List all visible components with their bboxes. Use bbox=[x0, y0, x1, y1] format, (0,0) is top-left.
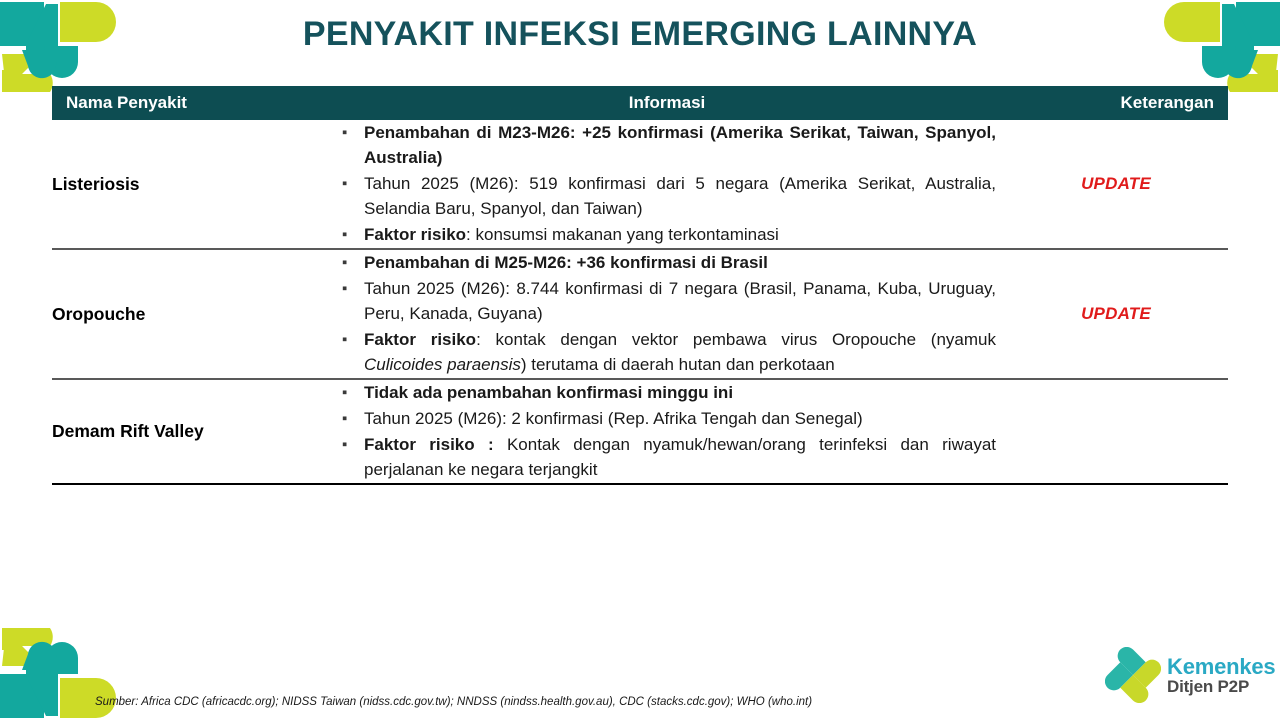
disease-note: UPDATE bbox=[1004, 120, 1228, 249]
column-header-nama-penyakit: Nama Penyakit bbox=[52, 86, 330, 120]
list-item: Faktor risiko: kontak dengan vektor pemb… bbox=[330, 327, 1004, 377]
table-body: Listeriosis Penambahan di M23-M26: +25 k… bbox=[52, 120, 1228, 484]
table-header: Nama Penyakit Informasi Keterangan bbox=[52, 86, 1228, 120]
kemenkes-clover-icon bbox=[1105, 647, 1161, 703]
bullet-body-text: : konsumsi makanan yang terkontaminasi bbox=[466, 225, 779, 244]
bullet-tail-text: ) terutama di daerah hutan dan perkotaan bbox=[521, 355, 835, 374]
bullet-lead-label: Faktor risiko bbox=[364, 225, 466, 244]
list-item: Penambahan di M25-M26: +36 konfirmasi di… bbox=[330, 250, 1004, 275]
status-badge: UPDATE bbox=[1081, 304, 1151, 324]
page-title: PENYAKIT INFEKSI EMERGING LAINNYA bbox=[140, 12, 1140, 56]
logo-line-ditjen: Ditjen P2P bbox=[1167, 678, 1275, 696]
column-header-informasi: Informasi bbox=[330, 86, 1004, 120]
list-item: Faktor risiko: konsumsi makanan yang ter… bbox=[330, 222, 1004, 247]
kemenkes-logo-text: Kemenkes Ditjen P2P bbox=[1167, 655, 1275, 696]
table-row: Listeriosis Penambahan di M23-M26: +25 k… bbox=[52, 120, 1228, 249]
column-header-keterangan: Keterangan bbox=[1004, 86, 1228, 120]
logo-line-kemenkes: Kemenkes bbox=[1167, 655, 1275, 678]
disease-note bbox=[1004, 379, 1228, 484]
bullet-lead-label: Faktor risiko : bbox=[364, 435, 494, 454]
info-bullet-list: Penambahan di M25-M26: +36 konfirmasi di… bbox=[330, 250, 1004, 377]
disease-table-container: Nama Penyakit Informasi Keterangan Liste… bbox=[52, 86, 1228, 485]
disease-note: UPDATE bbox=[1004, 249, 1228, 379]
table-row: Demam Rift Valley Tidak ada penambahan k… bbox=[52, 379, 1228, 484]
species-name: Culicoides paraensis bbox=[364, 355, 521, 374]
bullet-body-text: : kontak dengan vektor pembawa virus Oro… bbox=[476, 330, 996, 349]
list-item: Tahun 2025 (M26): 2 konfirmasi (Rep. Afr… bbox=[330, 406, 1004, 431]
list-item: Tahun 2025 (M26): 8.744 konfirmasi di 7 … bbox=[330, 276, 1004, 326]
corner-decoration-top-right bbox=[1150, 0, 1280, 95]
disease-info: Tidak ada penambahan konfirmasi minggu i… bbox=[330, 379, 1004, 484]
kemenkes-logo: Kemenkes Ditjen P2P bbox=[1105, 646, 1280, 704]
disease-info: Penambahan di M23-M26: +25 konfirmasi (A… bbox=[330, 120, 1004, 249]
bullet-lead-label: Faktor risiko bbox=[364, 330, 476, 349]
corner-decoration-top-left bbox=[0, 0, 130, 95]
info-bullet-list: Tidak ada penambahan konfirmasi minggu i… bbox=[330, 380, 1004, 482]
list-item: Tahun 2025 (M26): 519 konfirmasi dari 5 … bbox=[330, 171, 1004, 221]
disease-name: Listeriosis bbox=[52, 120, 330, 249]
disease-name: Demam Rift Valley bbox=[52, 379, 330, 484]
table-header-row: Nama Penyakit Informasi Keterangan bbox=[52, 86, 1228, 120]
disease-info: Penambahan di M25-M26: +36 konfirmasi di… bbox=[330, 249, 1004, 379]
list-item: Penambahan di M23-M26: +25 konfirmasi (A… bbox=[330, 120, 1004, 170]
info-bullet-list: Penambahan di M23-M26: +25 konfirmasi (A… bbox=[330, 120, 1004, 247]
disease-table: Nama Penyakit Informasi Keterangan Liste… bbox=[52, 86, 1228, 485]
list-item: Tidak ada penambahan konfirmasi minggu i… bbox=[330, 380, 1004, 405]
disease-name: Oropouche bbox=[52, 249, 330, 379]
status-badge: UPDATE bbox=[1081, 174, 1151, 194]
list-item: Faktor risiko : Kontak dengan nyamuk/hew… bbox=[330, 432, 1004, 482]
source-citation: Sumber: Africa CDC (africacdc.org); NIDS… bbox=[95, 696, 812, 708]
table-row: Oropouche Penambahan di M25-M26: +36 kon… bbox=[52, 249, 1228, 379]
